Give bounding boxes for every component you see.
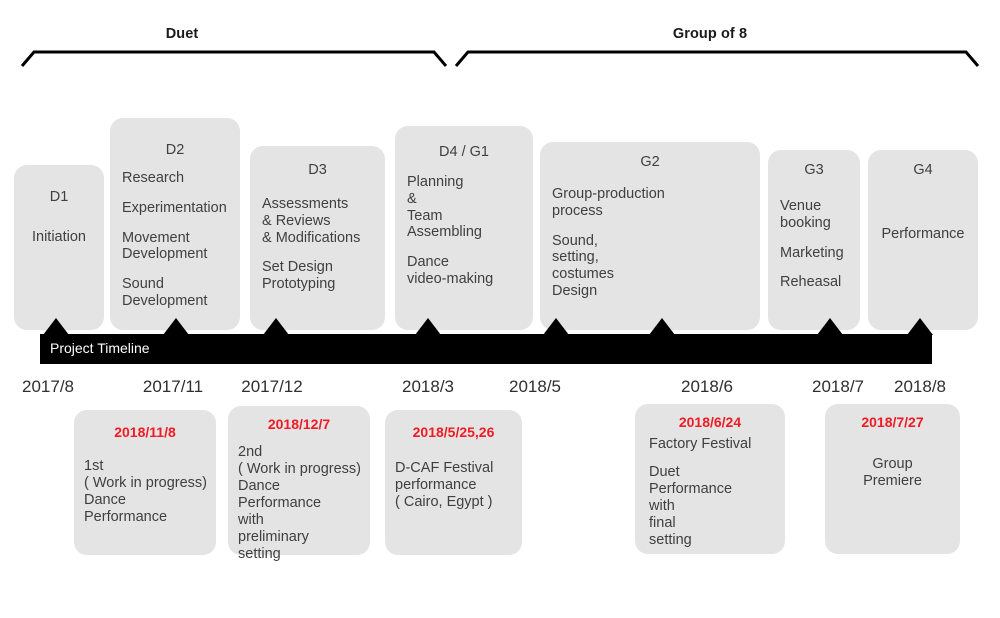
phase-box-d2[interactable]: D2ResearchExperimentationMovementDevelop… — [110, 118, 240, 330]
phase-text-line: video-making — [407, 271, 527, 288]
event-date-label: 2018/12/7 — [228, 416, 370, 432]
phase-code-label: G2 — [540, 154, 760, 170]
group-label-2: Group of 8 — [560, 26, 860, 42]
timeline-date-8: 2018/8 — [860, 377, 980, 397]
phase-code-label: D4 / G1 — [395, 144, 533, 160]
phase-text-group: Venuebooking — [780, 198, 854, 232]
phase-text-group: Marketing — [780, 245, 854, 262]
phase-body-text: Performance — [868, 226, 978, 243]
timeline-date-1: 2017/8 — [0, 377, 108, 397]
event-text-line: Performance — [649, 481, 781, 498]
phase-text-group: Planning&TeamAssembling — [407, 174, 527, 241]
phase-text-line: process — [552, 203, 754, 220]
event-body-text: 1st ( Work in progress)DancePerformance — [84, 458, 212, 526]
event-text-line: performance — [395, 477, 518, 494]
phase-text-line: Marketing — [780, 245, 854, 262]
phase-box-d1[interactable]: D1Initiation — [14, 165, 104, 330]
group-brace-1 — [12, 46, 456, 72]
phase-text-line: Movement — [122, 230, 234, 247]
event-text-group: Factory Festival — [649, 436, 781, 453]
phase-text-group: Group-productionprocess — [552, 186, 754, 220]
phase-text-line: Set Design — [262, 259, 379, 276]
phase-code-label: D3 — [250, 162, 385, 178]
phase-box-g4[interactable]: G4Performance — [868, 150, 978, 330]
timeline-tick-arrow-5 — [543, 318, 569, 335]
phase-text-group: Research — [122, 170, 234, 187]
event-text-line: 1st — [84, 458, 212, 475]
phase-code-label: D1 — [14, 189, 104, 205]
event-box-5[interactable]: 2018/7/27GroupPremiere — [825, 404, 960, 554]
phase-text-line: Assessments — [262, 196, 379, 213]
phase-body-text: VenuebookingMarketingReheasal — [768, 198, 860, 291]
event-text-group: GroupPremiere — [825, 456, 960, 490]
event-text-line: ( Cairo, Egypt ) — [395, 494, 518, 511]
phase-text-line: Experimentation — [122, 200, 234, 217]
phase-box-g2[interactable]: G2Group-productionprocessSound,setting,c… — [540, 142, 760, 330]
event-date-label: 2018/11/8 — [74, 424, 216, 440]
event-box-1[interactable]: 2018/11/81st ( Work in progress)DancePer… — [74, 410, 216, 555]
phase-body-text: Group-productionprocessSound,setting,cos… — [540, 186, 760, 300]
event-body-text: D-CAF Festivalperformance( Cairo, Egypt … — [395, 460, 518, 511]
phase-text-group: MovementDevelopment — [122, 230, 234, 264]
group-brace-2 — [446, 46, 988, 72]
phase-text-group: Initiation — [14, 229, 104, 246]
phase-text-line: Research — [122, 170, 234, 187]
phase-text-line: costumes — [552, 266, 754, 283]
phase-text-group: Reheasal — [780, 274, 854, 291]
timeline-tick-arrow-7 — [817, 318, 843, 335]
phase-text-group: Assessments& Reviews& Modifications — [262, 196, 379, 246]
phase-code-label: G3 — [768, 162, 860, 178]
phase-text-group: Sound,setting,costumesDesign — [552, 233, 754, 300]
event-text-line: Dance — [238, 478, 366, 495]
event-text-line: with — [238, 512, 366, 529]
event-text-line: preliminary — [238, 529, 366, 546]
event-box-2[interactable]: 2018/12/72nd ( Work in progress)DancePer… — [228, 406, 370, 555]
phase-body-text: Initiation — [14, 229, 104, 246]
event-text-line: setting — [649, 532, 781, 549]
event-text-line: Dance — [84, 492, 212, 509]
event-text-group: 1st ( Work in progress)DancePerformance — [84, 458, 212, 526]
phase-text-line: Performance — [868, 226, 978, 243]
phase-text-line: Assembling — [407, 224, 527, 241]
event-text-line: 2nd — [238, 444, 366, 461]
timeline-date-4: 2018/3 — [368, 377, 488, 397]
event-body-text: GroupPremiere — [825, 456, 960, 490]
event-body-text: Factory FestivalDuetPerformancewithfinal… — [649, 436, 781, 549]
timeline-date-5: 2018/5 — [475, 377, 595, 397]
phase-text-line: Team — [407, 208, 527, 225]
event-text-line: D-CAF Festival — [395, 460, 518, 477]
event-text-line: ( Work in progress) — [84, 475, 212, 492]
event-text-line: setting — [238, 546, 366, 563]
phase-body-text: ResearchExperimentationMovementDevelopme… — [110, 170, 240, 310]
phase-text-line: Initiation — [14, 229, 104, 246]
event-text-group: D-CAF Festivalperformance( Cairo, Egypt … — [395, 460, 518, 511]
phase-text-line: & — [407, 191, 527, 208]
timeline-date-6: 2018/6 — [647, 377, 767, 397]
phase-text-line: & Modifications — [262, 230, 379, 247]
phase-box-g3[interactable]: G3VenuebookingMarketingReheasal — [768, 150, 860, 330]
phase-text-line: Development — [122, 246, 234, 263]
phase-text-line: Sound — [122, 276, 234, 293]
phase-text-line: & Reviews — [262, 213, 379, 230]
phase-text-line: Prototyping — [262, 276, 379, 293]
phase-body-text: Assessments& Reviews& ModificationsSet D… — [250, 196, 385, 293]
event-text-line: Performance — [238, 495, 366, 512]
event-date-label: 2018/7/27 — [825, 414, 960, 430]
phase-text-line: Dance — [407, 254, 527, 271]
group-label-1: Duet — [32, 26, 332, 42]
phase-box-d3[interactable]: D3Assessments& Reviews& ModificationsSet… — [250, 146, 385, 330]
timeline-date-3: 2017/12 — [212, 377, 332, 397]
phase-text-group: Set DesignPrototyping — [262, 259, 379, 293]
event-body-text: 2nd ( Work in progress)DancePerformancew… — [238, 444, 366, 563]
phase-text-line: Design — [552, 283, 754, 300]
phase-text-line: Group-production — [552, 186, 754, 203]
timeline-tick-arrow-3 — [263, 318, 289, 335]
phase-box-d4-g1[interactable]: D4 / G1Planning&TeamAssemblingDancevideo… — [395, 126, 533, 330]
timeline-tick-arrow-1 — [43, 318, 69, 335]
event-text-group: DuetPerformancewithfinalsetting — [649, 464, 781, 549]
event-box-4[interactable]: 2018/6/24Factory FestivalDuetPerformance… — [635, 404, 785, 554]
event-text-line: Group — [825, 456, 960, 473]
phase-code-label: D2 — [110, 142, 240, 158]
timeline-bar — [40, 334, 932, 364]
phase-text-group: Experimentation — [122, 200, 234, 217]
event-text-group: 2nd ( Work in progress)DancePerformancew… — [238, 444, 366, 563]
event-text-line: ( Work in progress) — [238, 461, 366, 478]
phase-code-label: G4 — [868, 162, 978, 178]
event-date-label: 2018/6/24 — [635, 414, 785, 430]
event-text-line: Premiere — [825, 473, 960, 490]
timeline-tick-arrow-8 — [907, 318, 933, 335]
timeline-tick-arrow-2 — [163, 318, 189, 335]
phase-text-line: booking — [780, 215, 854, 232]
phase-text-line: Development — [122, 293, 234, 310]
event-text-line: Factory Festival — [649, 436, 781, 453]
phase-text-group: Dancevideo-making — [407, 254, 527, 288]
phase-text-line: setting, — [552, 249, 754, 266]
event-text-line: with — [649, 498, 781, 515]
phase-text-line: Reheasal — [780, 274, 854, 291]
timeline-tick-arrow-4 — [415, 318, 441, 335]
phase-text-line: Venue — [780, 198, 854, 215]
timeline-diagram-canvas: DuetGroup of 8 D1InitiationD2ResearchExp… — [0, 0, 1000, 618]
event-text-line: Performance — [84, 509, 212, 526]
timeline-bar-label: Project Timeline — [50, 340, 150, 356]
event-box-3[interactable]: 2018/5/25,26D-CAF Festivalperformance( C… — [385, 410, 522, 555]
event-text-line: final — [649, 515, 781, 532]
phase-text-line: Sound, — [552, 233, 754, 250]
timeline-tick-arrow-6 — [649, 318, 675, 335]
phase-text-group: Performance — [868, 226, 978, 243]
event-text-line: Duet — [649, 464, 781, 481]
phase-body-text: Planning&TeamAssemblingDancevideo-making — [395, 174, 533, 288]
event-date-label: 2018/5/25,26 — [385, 424, 522, 440]
phase-text-group: SoundDevelopment — [122, 276, 234, 310]
phase-text-line: Planning — [407, 174, 527, 191]
